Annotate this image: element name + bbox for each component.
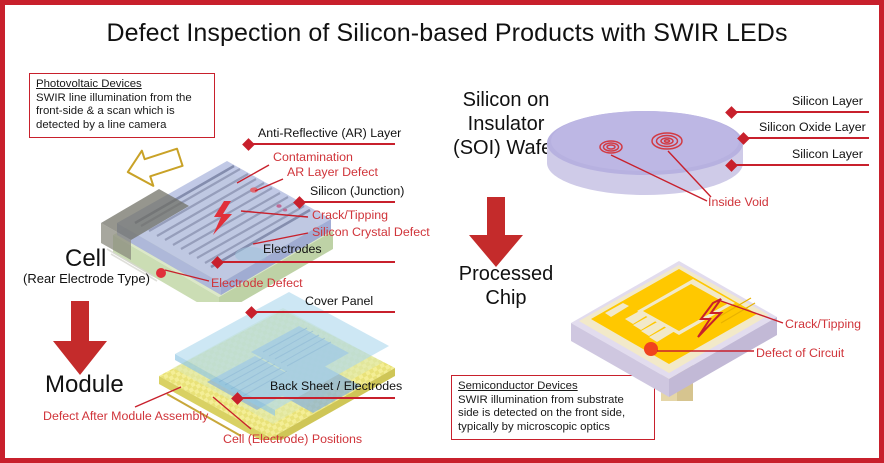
chip-title-line2: Chip xyxy=(437,287,575,310)
callout-photovoltaic-heading: Photovoltaic Devices xyxy=(36,78,208,92)
diagram-canvas: Defect Inspection of Silicon-based Produ… xyxy=(0,0,884,463)
diamond-marker-ar-layer xyxy=(242,138,255,151)
label-silicon-oxide-layer: Silicon Oxide Layer xyxy=(759,120,866,134)
leader-silicon-oxide-layer xyxy=(747,137,869,139)
label-crack-tipping-cell: Crack/Tipping xyxy=(312,208,388,222)
label-electrodes: Electrodes xyxy=(263,242,322,256)
label-back-sheet: Back Sheet / Electrodes xyxy=(270,379,402,393)
lightning-crack-icon xyxy=(210,201,236,235)
label-defect-after-module-assembly: Defect After Module Assembly xyxy=(43,409,208,423)
label-contamination: Contamination xyxy=(273,150,353,164)
label-silicon-layer-bottom: Silicon Layer xyxy=(792,147,863,161)
diamond-marker-silicon-layer-top xyxy=(725,106,738,119)
label-defect-of-circuit: Defect of Circuit xyxy=(756,346,844,360)
leader-silicon-layer-bottom xyxy=(735,164,869,166)
leader-silicon-layer-top xyxy=(735,111,869,113)
cell-title: Cell xyxy=(65,245,106,273)
diamond-marker-cover-panel xyxy=(245,306,258,319)
leader-back-sheet xyxy=(241,397,395,399)
down-arrow-icon-chip xyxy=(465,197,527,267)
label-cover-panel: Cover Panel xyxy=(305,294,373,308)
callout-semiconductor-line1: SWIR illumination from substrate xyxy=(458,394,648,408)
leader-ar-layer xyxy=(252,143,395,145)
callout-photovoltaic-line2: front-side & a scan which is xyxy=(36,105,208,119)
diamond-marker-silicon-junction xyxy=(293,196,306,209)
label-silicon-junction: Silicon (Junction) xyxy=(310,184,404,198)
diamond-marker-silicon-layer-bottom xyxy=(725,159,738,172)
label-ar-layer-defect: AR Layer Defect xyxy=(287,165,378,179)
swir-illumination-arrow-icon xyxy=(123,143,189,197)
leader-silicon-junction xyxy=(303,201,395,203)
callout-semiconductor-line2: side is detected on the front side, xyxy=(458,407,648,421)
module-title: Module xyxy=(45,371,124,399)
leader-cover-panel xyxy=(255,311,395,313)
leader-electrodes xyxy=(221,261,395,263)
label-silicon-crystal-defect: Silicon Crystal Defect xyxy=(312,225,430,239)
label-ar-layer: Anti-Reflective (AR) Layer xyxy=(258,126,401,140)
chip-title-line1: Processed xyxy=(437,263,575,286)
label-cell-electrode-positions: Cell (Electrode) Positions xyxy=(223,432,362,446)
callout-photovoltaic-line1: SWIR line illumination from the xyxy=(36,92,208,106)
cell-subtitle: (Rear Electrode Type) xyxy=(23,271,150,286)
soi-title-line2: Insulator xyxy=(443,113,569,136)
diamond-marker-electrodes xyxy=(211,256,224,269)
label-electrode-defect: Electrode Defect xyxy=(211,276,303,290)
callout-photovoltaic-line3: detected by a line camera xyxy=(36,119,208,133)
page-title: Defect Inspection of Silicon-based Produ… xyxy=(5,19,884,48)
callout-photovoltaic-devices: Photovoltaic Devices SWIR line illuminat… xyxy=(29,73,215,138)
diamond-marker-silicon-oxide-layer xyxy=(737,132,750,145)
soi-wafer-illustration xyxy=(545,91,745,211)
callout-semiconductor-line3: typically by microscopic optics xyxy=(458,421,648,435)
callout-semiconductor-devices: Semiconductor Devices SWIR illumination … xyxy=(451,375,655,440)
label-silicon-layer-top: Silicon Layer xyxy=(792,94,863,108)
soi-title-line1: Silicon on xyxy=(443,89,569,112)
diamond-marker-back-sheet xyxy=(231,392,244,405)
label-crack-tipping-chip: Crack/Tipping xyxy=(785,317,861,331)
down-arrow-icon-module xyxy=(49,301,111,375)
soi-title-line3: (SOI) Wafer xyxy=(437,137,575,160)
callout-semiconductor-heading: Semiconductor Devices xyxy=(458,380,648,394)
label-inside-void: Inside Void xyxy=(708,195,769,209)
